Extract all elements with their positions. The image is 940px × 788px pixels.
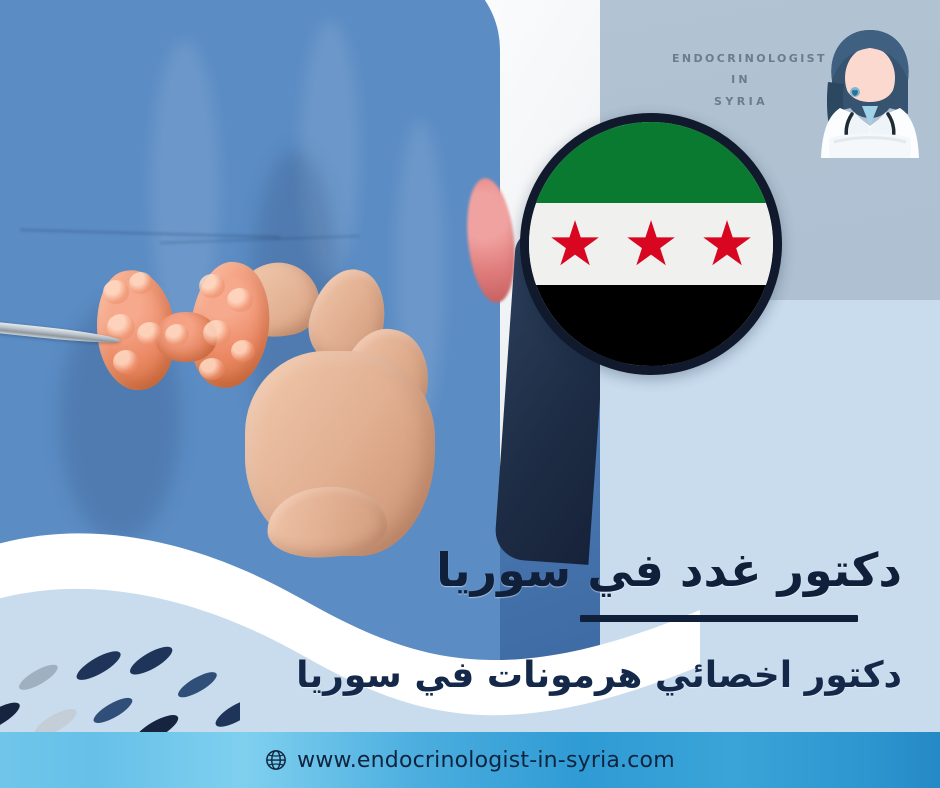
thyroid-bump	[129, 272, 153, 294]
flag-star-icon: ★	[545, 215, 605, 273]
website-url-bar[interactable]: www.endocrinologist-in-syria.com	[0, 732, 940, 788]
brand-line-2: IN	[672, 69, 810, 90]
title-underline	[580, 615, 858, 622]
poster-canvas: ★ ★ ★ ENDOCRINOLOGIST IN SYRIA	[0, 0, 940, 788]
brand-logo: ENDOCRINOLOGIST IN SYRIA	[672, 40, 932, 170]
female-doctor-icon	[810, 22, 930, 162]
website-url-text[interactable]: www.endocrinologist-in-syria.com	[297, 748, 675, 773]
thyroid-bump	[103, 280, 129, 304]
brand-line-3: SYRIA	[672, 91, 810, 112]
thyroid-bump	[227, 288, 253, 312]
page-title: دكتور غدد في سوريا	[436, 543, 902, 597]
thyroid-bump	[199, 274, 225, 298]
flag-star-icon: ★	[621, 215, 681, 273]
brand-line-1: ENDOCRINOLOGIST	[672, 48, 810, 69]
thyroid-bump	[113, 350, 139, 374]
globe-icon	[265, 749, 287, 771]
thyroid-bump	[165, 324, 189, 346]
thyroid-bump	[203, 320, 231, 346]
thyroid-model	[95, 262, 275, 397]
flag-star-icon: ★	[697, 215, 757, 273]
thyroid-bump	[137, 322, 163, 346]
page-subtitle: دكتور اخصائي هرمونات في سوريا	[296, 655, 902, 696]
flag-stripe-black	[529, 285, 773, 366]
thyroid-bump	[199, 358, 225, 380]
brand-logo-text: ENDOCRINOLOGIST IN SYRIA	[672, 48, 810, 112]
thyroid-bump	[231, 340, 255, 362]
flag-stripe-white: ★ ★ ★	[529, 203, 773, 284]
